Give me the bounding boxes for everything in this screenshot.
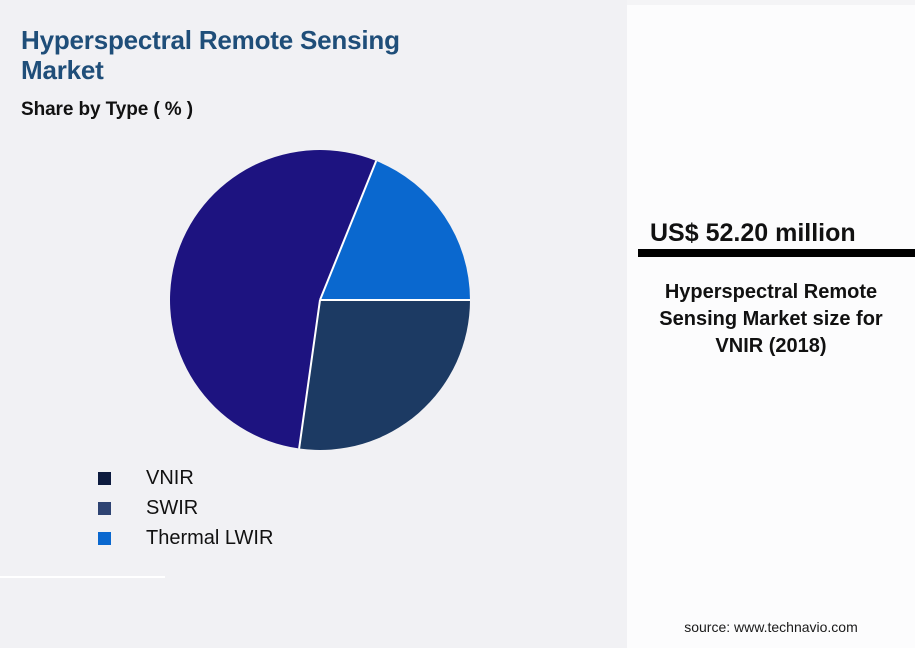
legend-item-thermal-lwir[interactable]: Thermal LWIR bbox=[98, 523, 428, 553]
divider-rule bbox=[0, 576, 165, 578]
pie-chart-svg bbox=[170, 150, 470, 450]
pie-slice-swir[interactable] bbox=[299, 300, 470, 450]
legend-item-label: SWIR bbox=[146, 498, 198, 518]
legend-item-vnir[interactable]: VNIR bbox=[98, 463, 428, 493]
chart-legend: VNIR SWIR Thermal LWIR bbox=[98, 463, 428, 553]
callout-panel: US$ 52.20 million Hyperspectral Remote S… bbox=[627, 0, 915, 648]
chart-panel: Hyperspectral Remote Sensing Market Shar… bbox=[0, 0, 627, 648]
legend-item-label: VNIR bbox=[146, 468, 194, 488]
callout-description: Hyperspectral Remote Sensing Market size… bbox=[635, 279, 907, 360]
pie-chart bbox=[170, 150, 470, 450]
legend-item-label: Thermal LWIR bbox=[146, 528, 273, 548]
source-note: source: www.technavio.com bbox=[627, 619, 915, 635]
chart-subtitle: Share by Type ( % ) bbox=[21, 99, 193, 121]
square-swatch-icon bbox=[98, 532, 111, 545]
square-swatch-icon bbox=[98, 472, 111, 485]
callout-value: US$ 52.20 million bbox=[650, 219, 915, 248]
legend-item-swir[interactable]: SWIR bbox=[98, 493, 428, 523]
callout-rule bbox=[638, 249, 915, 257]
chart-infographic: Hyperspectral Remote Sensing Market Shar… bbox=[0, 0, 915, 648]
page-title: Hyperspectral Remote Sensing Market bbox=[21, 25, 441, 85]
square-swatch-icon bbox=[98, 502, 111, 515]
